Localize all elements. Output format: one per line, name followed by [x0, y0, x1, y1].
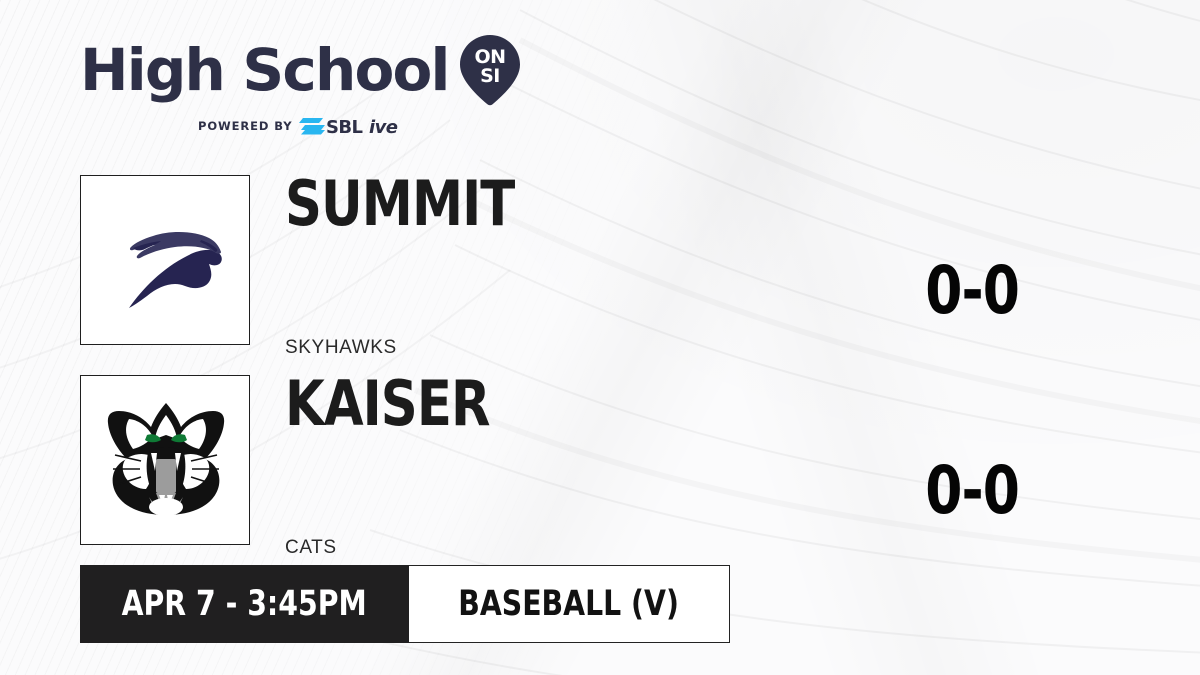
- brand-logo-row: High School ON SI: [80, 34, 521, 106]
- kaiser-wildcat-logo: [80, 375, 250, 545]
- team-mascot: SKYHAWKS: [285, 337, 397, 359]
- powered-by-row: POWERED BY SBL ive: [80, 115, 521, 137]
- score-home: 0-0: [925, 258, 1019, 324]
- game-info-bar: APR 7 - 3:45PM BASEBALL (V): [80, 565, 730, 643]
- game-datetime-text: APR 7 - 3:45PM: [122, 584, 367, 624]
- brand-header: High School ON SI POWERED BY SBL: [80, 34, 521, 137]
- team-mascot: CATS: [285, 537, 337, 559]
- svg-text:ive: ive: [369, 117, 398, 137]
- svg-text:SI: SI: [480, 65, 500, 87]
- score-away: 0-0: [925, 458, 1019, 524]
- team-name: SUMMIT: [285, 173, 514, 235]
- powered-by-label: POWERED BY: [198, 119, 292, 133]
- game-sport-text: BASEBALL (V): [459, 584, 680, 624]
- brand-title: High School: [80, 41, 449, 99]
- svg-text:SBL: SBL: [326, 117, 362, 137]
- on-si-pin-icon: ON SI: [459, 34, 521, 106]
- sblive-s-icon: [299, 118, 325, 135]
- game-sport-block: BASEBALL (V): [409, 565, 730, 643]
- game-datetime-block: APR 7 - 3:45PM: [80, 565, 409, 643]
- sblive-logo: SBL ive: [299, 115, 407, 137]
- summit-skyhawk-logo: [80, 175, 250, 345]
- scoreboard-graphic: High School ON SI POWERED BY SBL: [0, 0, 1200, 675]
- team-name: KAISER: [285, 373, 490, 435]
